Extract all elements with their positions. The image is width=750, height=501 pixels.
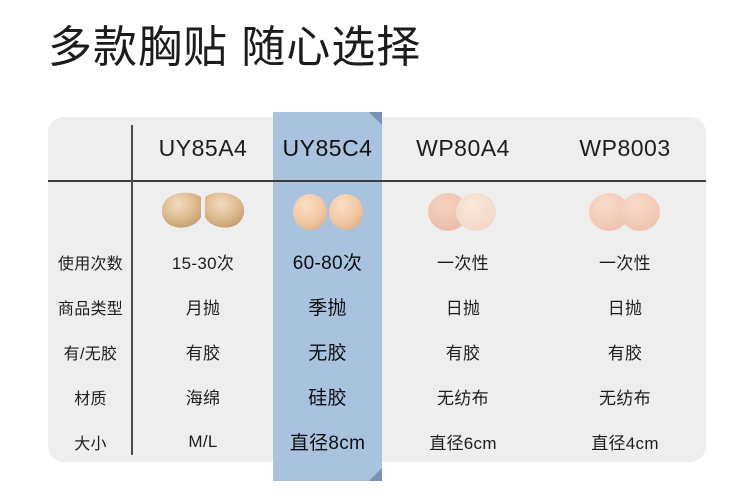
cell-material-uy85c4: 硅胶 xyxy=(273,383,382,410)
product-thumbnail-wp80a4 xyxy=(382,189,544,235)
product-thumbnail-uy85a4 xyxy=(133,189,273,235)
petal-cups-thumbnail xyxy=(133,189,273,235)
page-title: 多款胸贴 随心选择 xyxy=(48,20,421,76)
cell-material-uy85a4: 海绵 xyxy=(133,384,273,409)
cell-product-type-uy85a4: 月抛 xyxy=(133,294,273,319)
cell-material-wp8003: 无纺布 xyxy=(544,384,706,409)
cell-product-type-wp80a4: 日抛 xyxy=(382,294,544,319)
comparison-table: UY85A4 UY85C4 WP80A4 WP8003 xyxy=(48,117,706,462)
column-header-uy85a4[interactable]: UY85A4 xyxy=(133,135,273,162)
cell-product-type-wp8003: 日抛 xyxy=(544,294,706,319)
cell-adhesive-wp80a4: 有胶 xyxy=(382,339,544,364)
cell-size-uy85c4: 直径8cm xyxy=(273,428,382,455)
cell-material-wp80a4: 无纺布 xyxy=(382,384,544,409)
product-thumbnail-wp8003 xyxy=(544,189,706,235)
row-label-product-type: 商品类型 xyxy=(48,295,133,319)
row-label-adhesive: 有/无胶 xyxy=(48,340,133,364)
overlapping-discs-thumbnail xyxy=(382,189,544,235)
cell-adhesive-uy85c4: 无胶 xyxy=(273,338,382,365)
table-row: 大小 M/L 直径8cm 直径6cm 直径4cm xyxy=(48,419,706,464)
cell-usage-count-wp8003: 一次性 xyxy=(544,249,706,274)
product-image-row xyxy=(48,183,706,241)
row-label-material: 材质 xyxy=(48,385,133,409)
table-row: 有/无胶 有胶 无胶 有胶 有胶 xyxy=(48,329,706,374)
cell-adhesive-uy85a4: 有胶 xyxy=(133,339,273,364)
table-row: 使用次数 15-30次 60-80次 一次性 一次性 xyxy=(48,239,706,284)
product-thumbnail-uy85c4 xyxy=(273,189,382,235)
cell-usage-count-wp80a4: 一次性 xyxy=(382,249,544,274)
cell-usage-count-uy85a4: 15-30次 xyxy=(133,249,273,274)
round-pair-thumbnail xyxy=(273,189,382,235)
row-label-usage-count: 使用次数 xyxy=(48,250,133,274)
table-row: 商品类型 月抛 季抛 日抛 日抛 xyxy=(48,284,706,329)
cell-product-type-uy85c4: 季抛 xyxy=(273,293,382,320)
table-header-row: UY85A4 UY85C4 WP80A4 WP8003 xyxy=(48,117,706,180)
cell-adhesive-wp8003: 有胶 xyxy=(544,339,706,364)
cell-size-wp80a4: 直径6cm xyxy=(382,429,544,454)
header-divider-line xyxy=(48,180,706,182)
column-header-uy85c4[interactable]: UY85C4 xyxy=(273,135,382,162)
row-label-size: 大小 xyxy=(48,430,133,454)
cell-size-wp8003: 直径4cm xyxy=(544,429,706,454)
table-row: 材质 海绵 硅胶 无纺布 无纺布 xyxy=(48,374,706,419)
touching-circles-thumbnail xyxy=(544,189,706,235)
column-header-wp8003[interactable]: WP8003 xyxy=(544,135,706,162)
cell-size-uy85a4: M/L xyxy=(133,432,273,452)
cell-usage-count-uy85c4: 60-80次 xyxy=(273,248,382,275)
column-header-wp80a4[interactable]: WP80A4 xyxy=(382,135,544,162)
fold-corner-bottom-icon xyxy=(369,468,382,481)
